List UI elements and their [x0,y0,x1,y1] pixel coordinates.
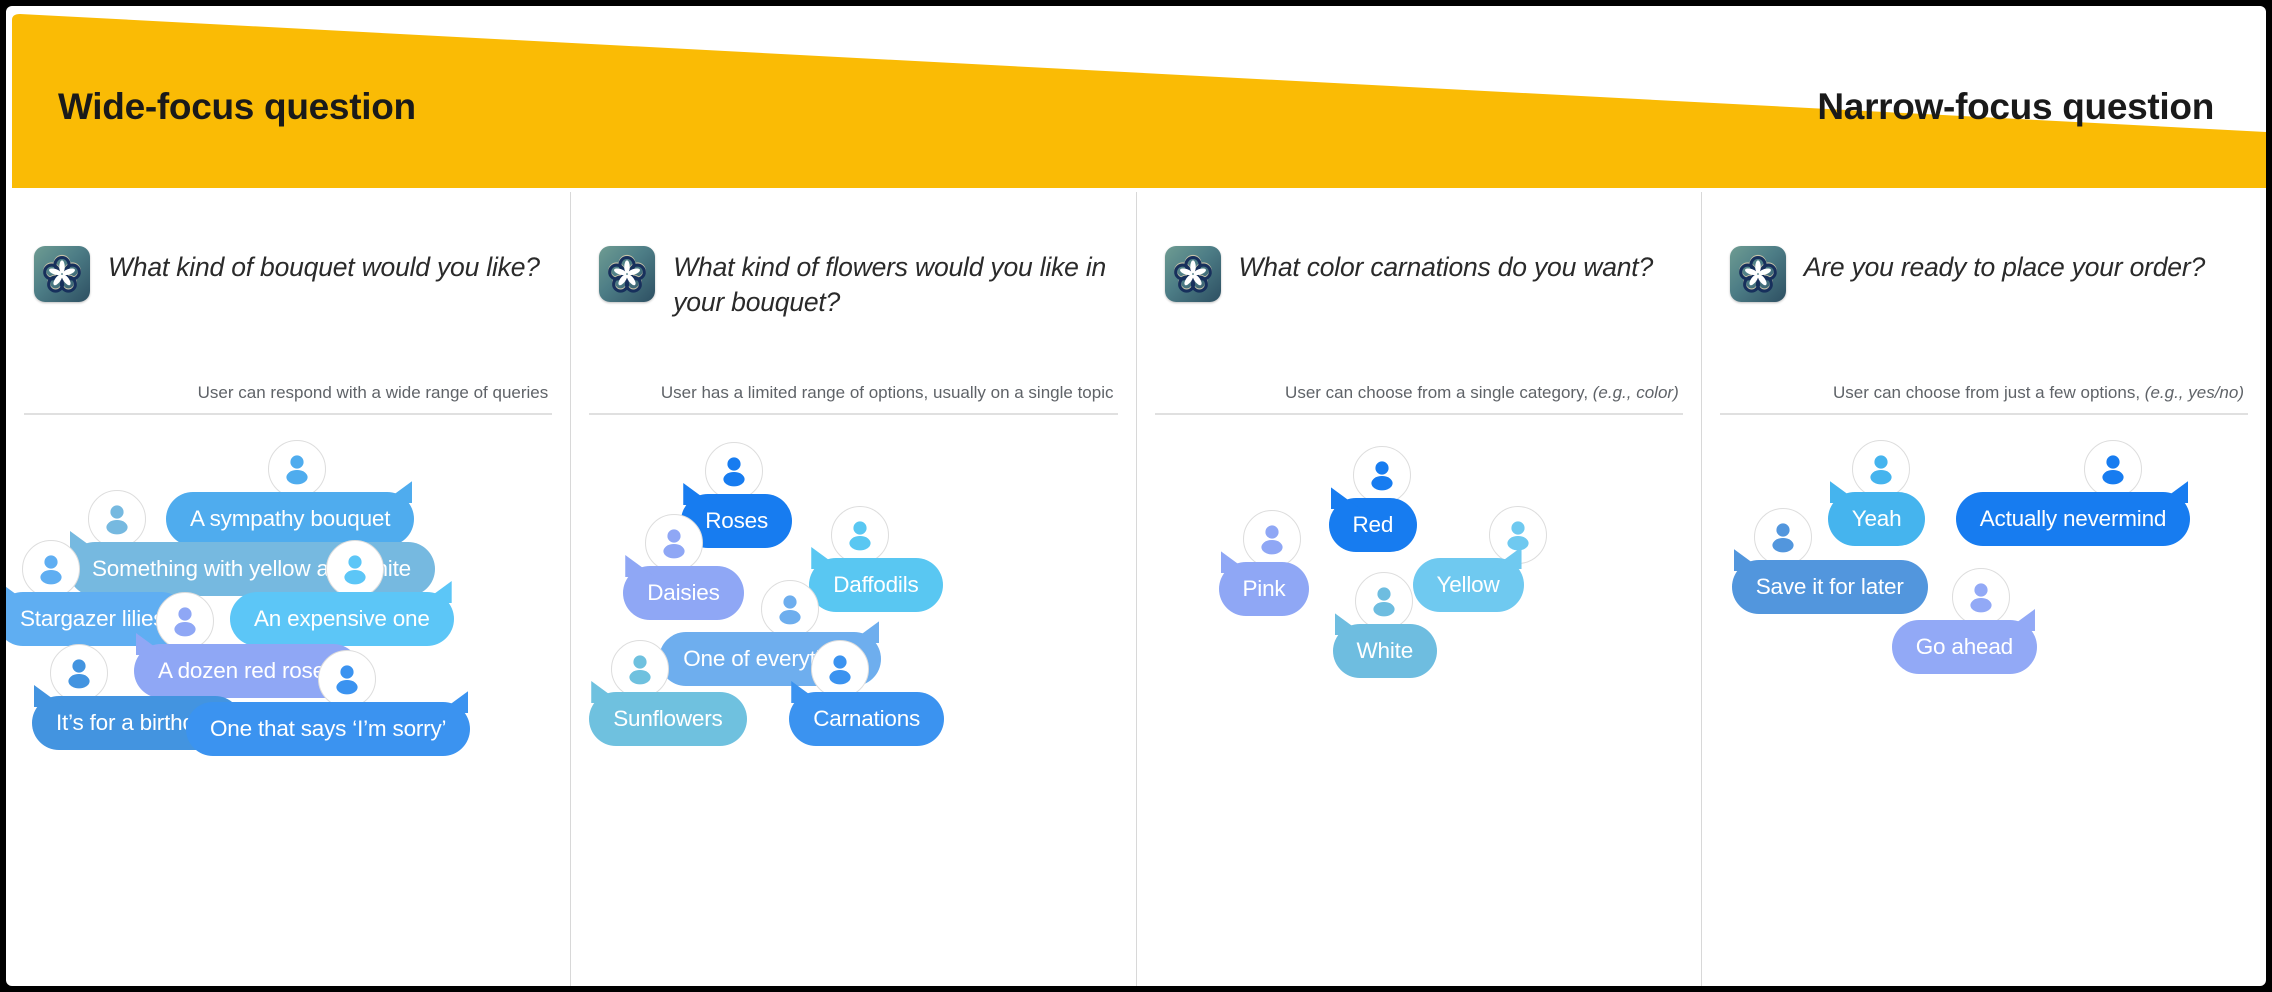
caption-example-text: (e.g., yes/no) [2145,383,2244,402]
column-header: Are you ready to place your order? [1720,192,2248,312]
user-avatar-icon [705,442,763,500]
caption-plain-text: User can choose from just a few options, [1833,383,2145,402]
question-column-3: What color carnations do you want?User c… [1137,192,1702,986]
user-avatar-icon [2084,440,2142,498]
user-reply-bubble[interactable]: Daffodils [809,558,942,612]
user-reply-cluster: YeahActually nevermindSave it for laterG… [1702,432,2266,972]
user-avatar-icon [1243,510,1301,568]
bubble-tail [849,621,879,643]
bubble-tail [382,481,412,503]
flower-logo-icon [599,246,655,302]
column-caption: User has a limited range of options, usu… [589,382,1117,413]
user-reply-bubble[interactable]: Go ahead [1892,620,2037,674]
caption-divider [589,413,1117,415]
bubble-tail [1331,487,1361,509]
bubble-tail [1221,551,1251,573]
caption-divider [24,413,552,415]
user-reply-bubble[interactable]: Yellow [1413,558,1524,612]
user-reply-bubble[interactable]: Pink [1219,562,1310,616]
caption-plain-text: User can choose from a single category, [1285,383,1593,402]
question-column-4: Are you ready to place your order?User c… [1702,192,2266,986]
diagram-frame: Wide-focus question Narrow-focus questio… [6,6,2266,986]
agent-question-text: Are you ready to place your order? [1804,246,2205,285]
user-reply-bubble[interactable]: Actually nevermind [1956,492,2191,546]
user-reply-cluster: RosesDaisiesDaffodilsOne of everythingSu… [571,432,1135,972]
agent-question-text: What kind of flowers would you like in y… [673,246,1111,320]
bubble-tail [1830,481,1860,503]
question-columns: What kind of bouquet would you like?User… [6,192,2266,986]
caption-plain-text: User can respond with a wide range of qu… [198,383,549,402]
column-caption-block: User can choose from a single category, … [1155,382,1683,415]
narrow-focus-label: Narrow-focus question [1817,86,2214,128]
caption-divider [1720,413,2248,415]
column-caption-block: User can respond with a wide range of qu… [24,382,552,415]
bubble-tail [438,691,468,713]
column-header: What kind of flowers would you like in y… [589,192,1117,320]
user-reply-cluster: RedPinkYellowWhite [1137,432,1701,972]
column-caption: User can respond with a wide range of qu… [24,382,552,413]
user-avatar-icon [1353,446,1411,504]
flower-logo-icon [34,246,90,302]
user-reply-bubble[interactable]: An expensive one [230,592,454,646]
flower-logo-icon [1165,246,1221,302]
user-avatar-icon [1852,440,1910,498]
column-header: What kind of bouquet would you like? [24,192,552,312]
question-column-1: What kind of bouquet would you like?User… [6,192,571,986]
user-avatar-icon [831,506,889,564]
caption-example-text: (e.g., color) [1593,383,1679,402]
agent-question-text: What kind of bouquet would you like? [108,246,540,285]
user-reply-bubble[interactable]: Sunflowers [589,692,746,746]
user-reply-cluster: A sympathy bouquetSomething with yellow … [6,432,570,972]
user-reply-bubble[interactable]: Daisies [623,566,743,620]
flower-logo-icon [1730,246,1786,302]
bubble-tail [2158,481,2188,503]
user-reply-bubble[interactable]: Carnations [789,692,944,746]
user-avatar-icon [156,592,214,650]
user-avatar-icon [50,644,108,702]
user-avatar-icon [268,440,326,498]
user-avatar-icon [326,540,384,598]
column-caption-block: User has a limited range of options, usu… [589,382,1117,415]
user-reply-bubble[interactable]: Yeah [1828,492,1926,546]
user-reply-bubble[interactable]: One that says ‘I’m sorry’ [186,702,470,756]
column-header: What color carnations do you want? [1155,192,1683,312]
question-column-2: What kind of flowers would you like in y… [571,192,1136,986]
user-avatar-icon [611,640,669,698]
user-avatar-icon [1952,568,2010,626]
user-avatar-icon [761,580,819,638]
agent-question-text: What color carnations do you want? [1239,246,1653,285]
user-avatar-icon [318,650,376,708]
user-reply-bubble[interactable]: White [1333,624,1438,678]
bubble-tail [6,581,28,603]
column-caption: User can choose from just a few options,… [1720,382,2248,413]
user-reply-bubble[interactable]: Red [1329,498,1418,552]
bubble-tail [2005,609,2035,631]
user-avatar-icon [88,490,146,548]
user-avatar-icon [22,540,80,598]
caption-divider [1155,413,1683,415]
column-caption: User can choose from a single category, … [1155,382,1683,413]
caption-plain-text: User has a limited range of options, usu… [661,383,1114,402]
column-caption-block: User can choose from just a few options,… [1720,382,2248,415]
wide-focus-label: Wide-focus question [58,86,416,128]
user-avatar-icon [1754,508,1812,566]
user-avatar-icon [1355,572,1413,630]
user-reply-bubble[interactable]: Save it for later [1732,560,1928,614]
user-reply-bubble[interactable]: A sympathy bouquet [166,492,414,546]
user-avatar-icon [645,514,703,572]
user-avatar-icon [811,640,869,698]
focus-spectrum-banner: Wide-focus question Narrow-focus questio… [6,6,2266,192]
